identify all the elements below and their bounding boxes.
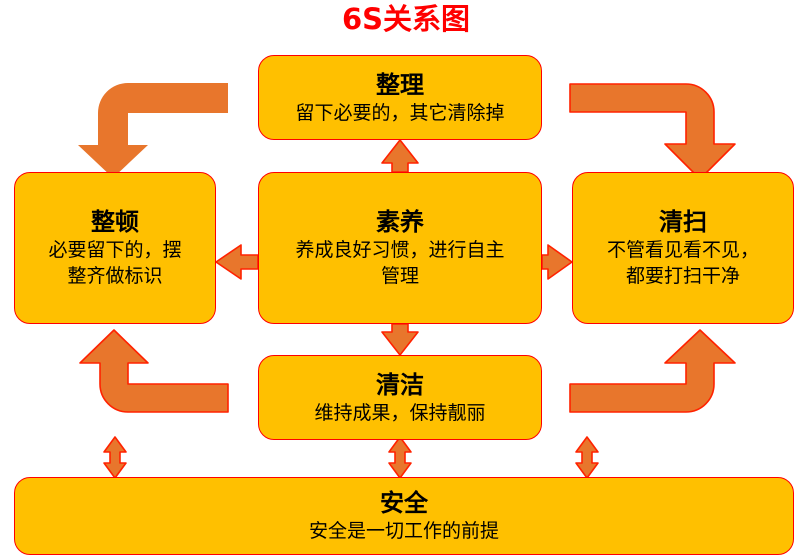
node-zhengli-title: 整理 bbox=[376, 70, 424, 100]
node-anquan[interactable]: 安全 安全是一切工作的前提 bbox=[14, 477, 794, 555]
arrow-anquan-link-left bbox=[104, 437, 126, 478]
page-title: 6S关系图 bbox=[0, 2, 812, 36]
node-zhengli-desc: 留下必要的，其它清除掉 bbox=[295, 100, 504, 126]
node-qingjie-desc: 维持成果，保持靓丽 bbox=[314, 400, 485, 426]
arrow-suyang-to-zhengdun bbox=[216, 245, 258, 279]
diagram-canvas: 6S关系图 整理 留下必要的，其它清除掉 整顿 必要留下的，摆 整齐做标识 素养 bbox=[0, 0, 812, 560]
node-anquan-desc: 安全是一切工作的前提 bbox=[309, 518, 499, 544]
arrow-qingjie-to-qingsao bbox=[570, 330, 735, 412]
arrow-suyang-to-qingsao bbox=[542, 245, 572, 279]
arrow-zhengli-to-qingsao bbox=[570, 84, 735, 179]
node-suyang-title: 素养 bbox=[376, 207, 424, 237]
arrow-anquan-link-right bbox=[576, 437, 598, 478]
arrow-qingjie-to-zhengdun bbox=[80, 330, 228, 412]
node-qingjie-title: 清洁 bbox=[376, 370, 424, 400]
node-qingsao-desc: 不管看见看不见， 都要打扫干净 bbox=[607, 237, 759, 289]
arrow-suyang-to-qingjie bbox=[382, 324, 418, 355]
arrow-suyang-to-zhengli bbox=[382, 140, 418, 172]
node-qingsao[interactable]: 清扫 不管看见看不见， 都要打扫干净 bbox=[572, 172, 794, 324]
node-zhengdun-title: 整顿 bbox=[91, 207, 139, 237]
arrow-anquan-link-center bbox=[389, 437, 411, 478]
node-suyang[interactable]: 素养 养成良好习惯，进行自主 管理 bbox=[258, 172, 542, 324]
node-qingsao-title: 清扫 bbox=[659, 207, 707, 237]
node-suyang-desc: 养成良好习惯，进行自主 管理 bbox=[295, 237, 504, 289]
node-zhengli[interactable]: 整理 留下必要的，其它清除掉 bbox=[258, 55, 542, 140]
arrow-zhengli-to-zhengdun bbox=[78, 83, 228, 178]
node-qingjie[interactable]: 清洁 维持成果，保持靓丽 bbox=[258, 355, 542, 440]
node-zhengdun[interactable]: 整顿 必要留下的，摆 整齐做标识 bbox=[14, 172, 216, 324]
node-anquan-title: 安全 bbox=[380, 488, 428, 518]
node-zhengdun-desc: 必要留下的，摆 整齐做标识 bbox=[48, 237, 181, 289]
